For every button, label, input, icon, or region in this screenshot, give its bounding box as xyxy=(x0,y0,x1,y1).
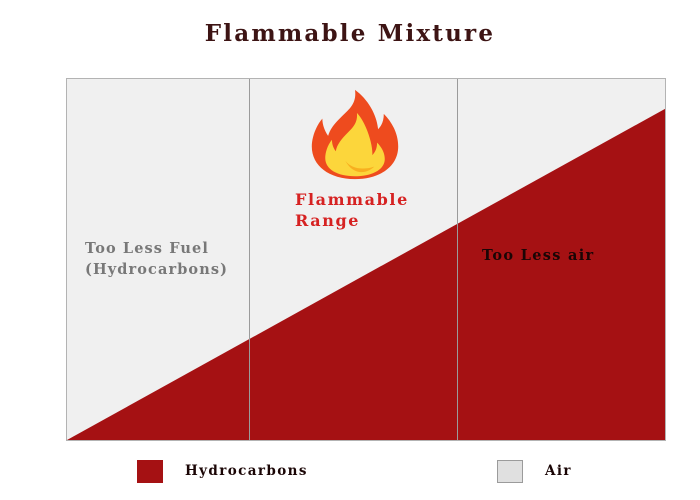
legend: Hydrocarbons Air xyxy=(66,458,666,486)
region-label-flammable-range: Flammable Range xyxy=(295,189,409,231)
region-label-flammable-range-line2: Range xyxy=(295,210,409,231)
region-label-too-less-fuel: Too Less Fuel (Hydrocarbons) xyxy=(85,239,255,280)
region-label-too-less-fuel-line2: (Hydrocarbons) xyxy=(85,260,255,281)
region-label-flammable-range-line1: Flammable xyxy=(295,189,409,210)
legend-label-hydrocarbons: Hydrocarbons xyxy=(185,463,308,479)
legend-label-air: Air xyxy=(545,463,572,479)
plot-area: Too Less Fuel (Hydrocarbons) Flammable R… xyxy=(66,78,666,441)
legend-item-air: Air xyxy=(497,458,572,484)
chart-container: Flammable Mixture Too Less Fuel (Hydroca… xyxy=(0,0,700,500)
panel-divider-right xyxy=(457,79,458,440)
page-title: Flammable Mixture xyxy=(0,20,700,47)
region-label-too-less-fuel-line1: Too Less Fuel xyxy=(85,239,255,260)
legend-item-hydrocarbons: Hydrocarbons xyxy=(137,458,308,484)
legend-swatch-air-icon xyxy=(497,460,523,483)
legend-swatch-hydrocarbons-icon xyxy=(137,460,163,483)
region-label-too-less-air: Too Less air xyxy=(482,247,594,264)
flame-icon xyxy=(307,86,403,182)
